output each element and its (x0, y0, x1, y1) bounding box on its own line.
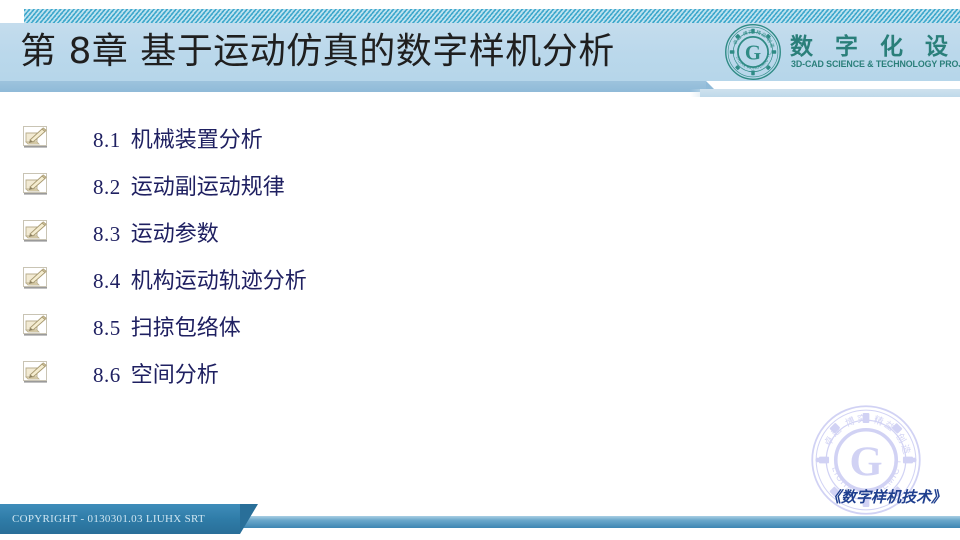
pencil-note-icon (23, 361, 49, 385)
list-item-label: 运动副运动规律 (131, 175, 285, 200)
list-item-section: 8.3 (93, 222, 121, 246)
list-item[interactable]: 8.3运动参数 (0, 212, 700, 259)
list-item-text: 8.6空间分析 (93, 353, 219, 400)
list-item-label: 空间分析 (131, 363, 219, 388)
brand-logo: G 卓越 博究 精益 创造 LIUHX ACADEMIC TEAM 数 字 化 … (724, 21, 956, 83)
svg-text:G: G (745, 41, 761, 65)
list-item-section: 8.5 (93, 316, 121, 340)
header-stripe-left-cap (0, 9, 24, 23)
list-item[interactable]: 8.2运动副运动规律 (0, 165, 700, 212)
pencil-note-icon (23, 173, 49, 197)
list-item-section: 8.1 (93, 128, 121, 152)
pencil-note-icon (23, 267, 49, 291)
book-title: 《数字样机技术》 (826, 486, 946, 507)
list-item[interactable]: 8.1机械装置分析 (0, 118, 700, 165)
brand-name-en: 3D-CAD SCIENCE & TECHNOLOGY PROJECTS (791, 59, 960, 70)
pencil-note-icon (23, 314, 49, 338)
header-underbar-secondary (700, 89, 960, 97)
list-item-label: 机械装置分析 (131, 128, 263, 153)
slide-header: 第 8章 基于运动仿真的数字样机分析 (0, 0, 960, 100)
svg-text:G: G (849, 439, 882, 486)
pencil-note-icon (23, 126, 49, 150)
list-item[interactable]: 8.4机构运动轨迹分析 (0, 259, 700, 306)
list-item-section: 8.4 (93, 269, 121, 293)
list-item-text: 8.2运动副运动规律 (93, 165, 285, 212)
list-item-label: 扫掠包络体 (131, 316, 241, 341)
brand-emblem-icon: G 卓越 博究 精益 创造 LIUHX ACADEMIC TEAM (724, 23, 782, 81)
pencil-note-icon (23, 220, 49, 244)
list-item-label: 机构运动轨迹分析 (131, 269, 307, 294)
copyright-text: COPYRIGHT - 0130301.03 LIUHX SRT (12, 504, 205, 534)
list-item-text: 8.4机构运动轨迹分析 (93, 259, 307, 306)
brand-name-cn: 数 字 化 设 计 (790, 27, 960, 61)
list-item-section: 8.6 (93, 363, 121, 387)
slide-canvas: 第 8章 基于运动仿真的数字样机分析 (0, 0, 960, 540)
list-item-text: 8.5扫掠包络体 (93, 306, 241, 353)
list-item[interactable]: 8.5扫掠包络体 (0, 306, 700, 353)
list-item-text: 8.3运动参数 (93, 212, 219, 259)
list-item[interactable]: 8.6空间分析 (0, 353, 700, 400)
list-item-text: 8.1机械装置分析 (93, 118, 263, 165)
list-item-section: 8.2 (93, 175, 121, 199)
footer-bar (236, 516, 960, 528)
page-title-text: 第 8章 基于运动仿真的数字样机分析 (20, 31, 615, 72)
header-underbar-primary (0, 81, 706, 92)
page-title: 第 8章 基于运动仿真的数字样机分析 (20, 22, 615, 82)
outline-list: 8.1机械装置分析 8.2运动副运动规律 (0, 118, 700, 400)
list-item-label: 运动参数 (131, 222, 219, 247)
